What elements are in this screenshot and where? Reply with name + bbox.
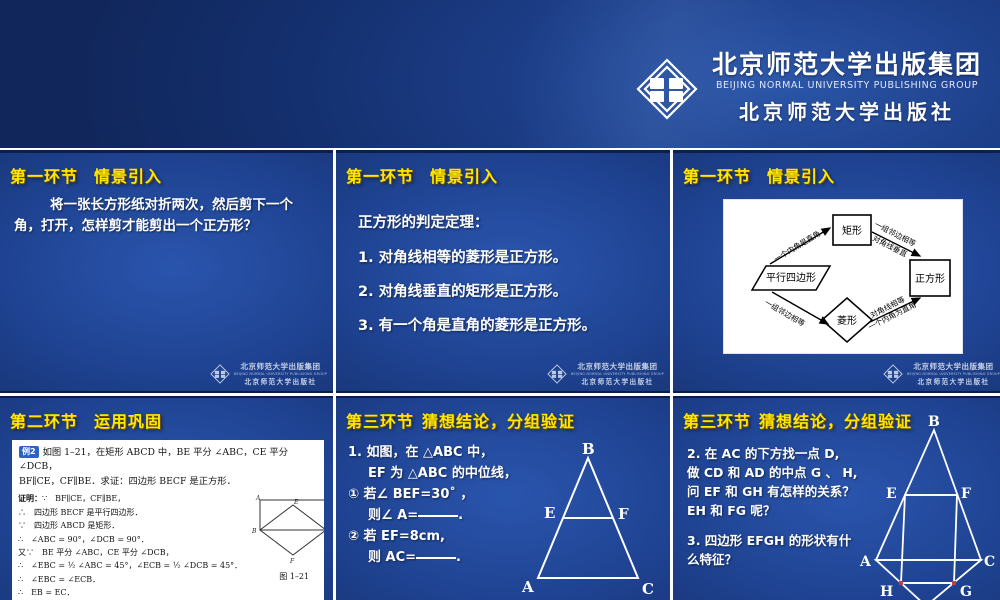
question-1b-answer-tail: . (456, 550, 461, 565)
figure-point-F: F (961, 486, 971, 502)
slide-2-title-right: 情景引入 (430, 167, 498, 186)
logo-primary-text: 北京师范大学出版集团 (712, 52, 982, 78)
slide-5-title-right: 猜想结论，分组验证 (422, 412, 575, 431)
question-1b: ② 若 EF=8cm, (348, 526, 526, 547)
publisher-logo: 北京师范大学出版集团 BEIJING NORMAL UNIVERSITY PUB… (636, 52, 982, 125)
flow-node-parallelogram-label: 平行四边形 (766, 271, 816, 284)
triangle-point-E: E (544, 504, 555, 522)
slide-2-body: 正方形的判定定理： 1. 对角线相等的菱形是正方形。 2. 对角线垂直的矩形是正… (358, 211, 658, 348)
watermark-diamond-icon (210, 364, 230, 384)
figure-point-A: A (255, 495, 261, 502)
flow-node-rhombus-label: 菱形 (837, 315, 857, 327)
proof-line-7: ∴ EB = EC． (18, 586, 242, 599)
slide-4-title-left: 第二环节 (10, 412, 78, 431)
logo-secondary-text: 北京师范大学出版社 (739, 96, 955, 125)
flow-node-square-label: 正方形 (915, 272, 945, 285)
proof-line-3: ∴ ∠ABC = 90°，∠DCB = 90°． (18, 533, 242, 546)
flow-node-rectangle-label: 矩形 (842, 224, 862, 237)
triangle-point-F: F (618, 505, 629, 523)
slide-thumb-2[interactable]: 第一环节情景引入 正方形的判定定理： 1. 对角线相等的菱形是正方形。 2. 对… (336, 150, 670, 393)
watermark-diamond-icon (883, 364, 903, 384)
slide-thumb-4[interactable]: 第二环节运用巩固 例2如图 1–21，在矩形 ABCD 中，BE 平分 ∠ABC… (0, 396, 333, 600)
slide-3-title: 第一环节情景引入 (683, 163, 835, 187)
proof-line-1: ∴ 四边形 BECF 是平行四边形． (18, 506, 242, 519)
example-statement: 例2如图 1–21，在矩形 ABCD 中，BE 平分 ∠ABC，CE 平分 ∠D… (12, 440, 324, 492)
question-1-line-1: 1. 如图，在 △ABC 中， (348, 442, 526, 463)
triangle-point-B: B (582, 440, 595, 458)
square-criterion-3: 3. 有一个角是直角的菱形是正方形。 (358, 314, 658, 335)
proof-line-0: 证明：∵ BF∥CE，CF∥BE， (18, 492, 242, 505)
slide-2-watermark: 北京师范大学出版集团 BEIJING NORMAL UNIVERSITY PUB… (547, 361, 664, 386)
proof-line-6: ∴ ∠EBC = ∠ECB． (18, 573, 242, 586)
question-1a: ① 若∠ BEF=30˚ ， (348, 484, 526, 505)
textbook-example-card: 例2如图 1–21，在矩形 ABCD 中，BE 平分 ∠ABC，CE 平分 ∠D… (12, 440, 324, 600)
header-banner: 北京师范大学出版集团 BEIJING NORMAL UNIVERSITY PUB… (0, 0, 1000, 148)
triangle-midline-figure: B A C E F (516, 440, 666, 600)
figure-point-A: A (859, 554, 872, 570)
figure-point-E: E (886, 486, 897, 502)
slide-1-title-left: 第一环节 (10, 167, 78, 186)
question-1a-answer: 则∠ A=. (348, 505, 526, 526)
slide-thumb-1[interactable]: 第一环节情景引入 将一张长方形纸对折两次，然后剪下一个角，打开，怎样剪才能剪出一… (0, 150, 333, 393)
slide-2-title: 第一环节情景引入 (346, 163, 498, 187)
square-criterion-1: 1. 对角线相等的菱形是正方形。 (358, 246, 658, 267)
slide-4-title: 第二环节运用巩固 (10, 408, 162, 432)
slide-contact-sheet: 北京师范大学出版集团 BEIJING NORMAL UNIVERSITY PUB… (0, 0, 1000, 600)
watermark-secondary-text: 北京师范大学出版社 (245, 376, 317, 386)
question-1a-answer-label: 则∠ A= (368, 508, 418, 523)
logo-english-text: BEIJING NORMAL UNIVERSITY PUBLISHING GRO… (716, 80, 978, 91)
slide-1-watermark: 北京师范大学出版集团 BEIJING NORMAL UNIVERSITY PUB… (210, 361, 327, 386)
question-1-line-2: EF 为 △ABC 的中位线， (348, 463, 526, 484)
square-criteria-lead: 正方形的判定定理： (358, 211, 658, 232)
bnup-diamond-logo-icon (636, 58, 698, 120)
figure-point-C: C (984, 554, 995, 570)
figure-point-G: G (960, 584, 972, 600)
example-statement-line-2: BF∥CE，CF∥BE．求证：四边形 BECF 是正方形． (19, 475, 317, 489)
answer-blank-2[interactable] (416, 557, 456, 559)
slide-1-title: 第一环节情景引入 (10, 163, 162, 187)
slide-1-body-text: 将一张长方形纸对折两次，然后剪下一个角，打开，怎样剪才能剪出一个正方形？ (14, 195, 319, 237)
proof-line-4: 又∵ BE 平分 ∠ABC，CE 平分 ∠DCB， (18, 546, 242, 559)
watermark-primary-text: 北京师范大学出版集团 (578, 361, 658, 372)
question-1b-answer: 则 AC=. (348, 547, 526, 568)
quadrilateral-relationship-flowchart: 平行四边形 矩形 菱形 正方形 一个内角是直角 一组邻边相等 对角线垂直 一组邻… (723, 199, 963, 354)
slide-grid: 第一环节情景引入 将一张长方形纸对折两次，然后剪下一个角，打开，怎样剪才能剪出一… (0, 150, 1000, 600)
slide-2-title-left: 第一环节 (346, 167, 414, 186)
figure-point-E: E (293, 499, 299, 506)
proof-line-0-text: ∵ BF∥CE，CF∥BE， (42, 494, 125, 503)
proof-line-2: ∵ 四边形 ABCD 是矩形． (18, 519, 242, 532)
square-criterion-2: 2. 对角线垂直的矩形是正方形。 (358, 280, 658, 301)
figure-point-F: F (289, 558, 295, 565)
slide-thumb-6[interactable]: 第三环节猜想结论，分组验证 2. 在 AC 的下方找一点 D, 做 CD 和 A… (673, 396, 1000, 600)
answer-blank-1[interactable] (418, 515, 458, 517)
question-1a-answer-tail: . (458, 508, 463, 523)
example-figure-caption: 图 1–21 (246, 571, 324, 582)
watermark-primary-text: 北京师范大学出版集团 (241, 361, 321, 372)
slide-5-title-left: 第三环节 (346, 412, 414, 431)
slide-6-title-left: 第三环节 (683, 412, 751, 431)
watermark-secondary-text: 北京师范大学出版社 (918, 376, 990, 386)
question-1b-answer-label: 则 AC= (368, 550, 416, 565)
quadrilateral-efgh-figure: B A C E F H G D (856, 412, 1000, 600)
watermark-secondary-text: 北京师范大学出版社 (582, 376, 654, 386)
slide-3-title-right: 情景引入 (767, 167, 835, 186)
watermark-primary-text: 北京师范大学出版集团 (914, 361, 994, 372)
slide-thumb-3[interactable]: 第一环节情景引入 平行四边形 矩形 菱形 (673, 150, 1000, 393)
example-figure: A D E B C F 图 1–21 (246, 492, 324, 600)
triangle-point-C: C (642, 580, 654, 598)
slide-4-title-right: 运用巩固 (94, 412, 162, 431)
slide-1-title-right: 情景引入 (94, 167, 162, 186)
slide-3-title-left: 第一环节 (683, 167, 751, 186)
proof-line-5: ∴ ∠EBC = ½ ∠ABC = 45°，∠ECB = ½ ∠DCB = 45… (18, 559, 242, 572)
proof-label: 证明： (18, 493, 42, 503)
figure-point-H: H (880, 584, 893, 600)
example-proof: 证明：∵ BF∥CE，CF∥BE， ∴ 四边形 BECF 是平行四边形． ∵ 四… (18, 492, 242, 600)
figure-point-B: B (928, 414, 940, 430)
example-badge: 例2 (19, 446, 39, 458)
slide-3-watermark: 北京师范大学出版集团 BEIJING NORMAL UNIVERSITY PUB… (883, 361, 1000, 386)
slide-thumb-5[interactable]: 第三环节猜想结论，分组验证 1. 如图，在 △ABC 中， EF 为 △ABC … (336, 396, 670, 600)
triangle-point-A: A (521, 578, 534, 596)
slide-5-questions: 1. 如图，在 △ABC 中， EF 为 △ABC 的中位线， ① 若∠ BEF… (348, 442, 526, 568)
slide-5-title: 第三环节猜想结论，分组验证 (346, 408, 575, 432)
watermark-diamond-icon (547, 364, 567, 384)
figure-point-B: B (251, 528, 257, 535)
example-statement-line-1: 如图 1–21，在矩形 ABCD 中，BE 平分 ∠ABC，CE 平分 ∠DCB… (19, 447, 288, 472)
